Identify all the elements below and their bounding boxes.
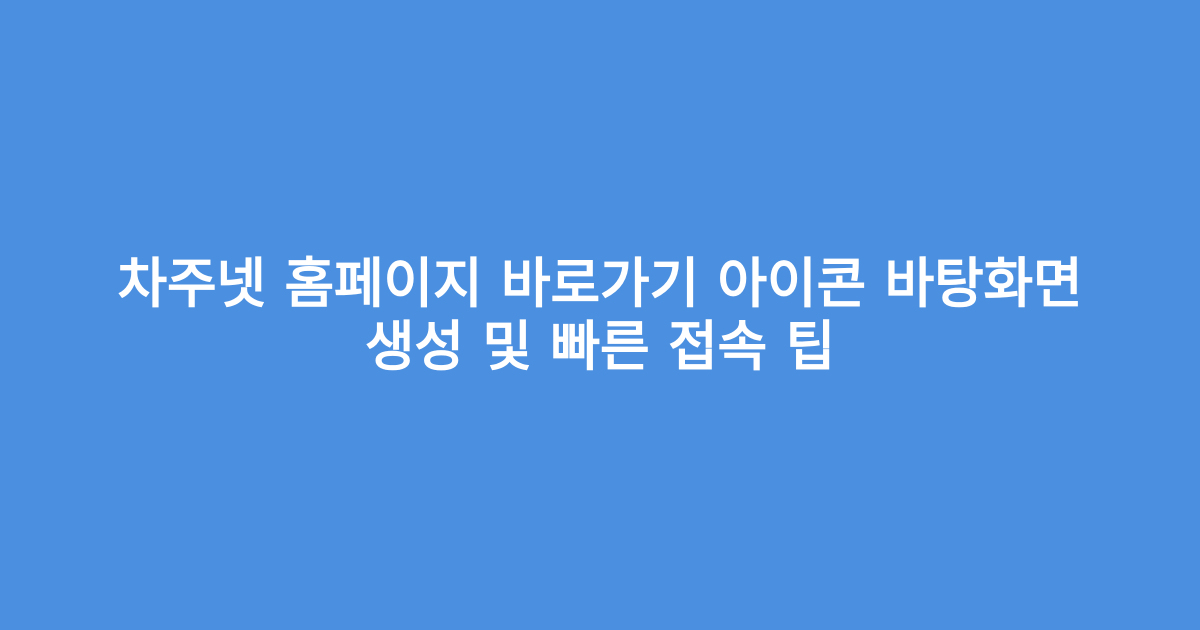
headline-block: 차주넷 홈페이지 바로가기 아이콘 바탕화면 생성 및 빠른 접속 팁 xyxy=(70,252,1130,378)
page-title: 차주넷 홈페이지 바로가기 아이콘 바탕화면 생성 및 빠른 접속 팁 xyxy=(70,252,1130,378)
banner-card: 차주넷 홈페이지 바로가기 아이콘 바탕화면 생성 및 빠른 접속 팁 xyxy=(0,0,1200,630)
